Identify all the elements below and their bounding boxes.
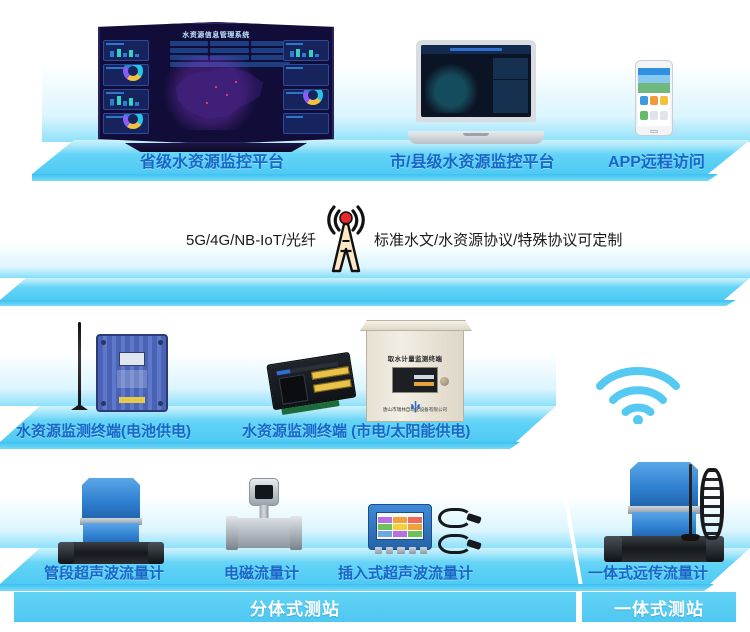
metering-cabinet: 取水计量监测终端 ◑|◐ 唐山市瑞林自动化设备有限公司 — [360, 318, 472, 422]
station-type-banner: 分体式测站 一体式测站 — [14, 592, 736, 622]
telemetry-antenna-icon — [689, 464, 692, 536]
video-wall-screen: 水资源信息管理系统 — [98, 22, 334, 144]
smartphone-body — [635, 60, 673, 136]
laptop-lid — [416, 40, 536, 122]
antenna-cable-coil-icon — [700, 468, 724, 540]
sensor-layer-edge — [0, 584, 714, 591]
cabinet-window — [392, 367, 438, 393]
comm-label-protocol: 标准水文/水资源协议/特殊协议可定制 — [374, 229, 622, 250]
smartphone-home-button — [650, 130, 658, 133]
terminal-layer-edge — [0, 442, 520, 449]
sensor-label-insertion-ultrasonic: 插入式超声波流量计 — [338, 562, 473, 583]
terminal-label-battery: 水资源监测终端(电池供电) — [16, 420, 191, 441]
laptop-base — [408, 131, 544, 144]
insertion-converter — [368, 504, 432, 550]
smartphone-screen — [638, 68, 670, 126]
insertion-ultrasonic-flowmeter — [368, 498, 480, 564]
banner-split-station: 分体式测站 — [14, 592, 576, 622]
banner-integrated-station: 一体式测站 — [582, 592, 736, 622]
sensor-cable-icon — [438, 508, 472, 528]
sensor-label-pipe-ultrasonic: 管段超声波流量计 — [44, 562, 164, 583]
video-wall-right-cards — [283, 40, 329, 134]
electromagnetic-flowmeter — [218, 478, 310, 564]
led-video-wall: 水资源信息管理系统 — [98, 22, 334, 144]
integrated-telemetry-flowmeter — [586, 462, 726, 564]
platform-label-municipal: 市/县级水资源监控平台 — [390, 148, 554, 172]
video-wall-map — [163, 56, 277, 130]
video-wall-screen-title: 水资源信息管理系统 — [100, 30, 332, 40]
wifi-icon — [592, 362, 684, 424]
rtu-antenna-icon — [78, 322, 81, 406]
platform-layer-edge — [32, 174, 718, 181]
diagram-canvas: 水资源信息管理系统 — [0, 0, 750, 632]
comm-label-bearer: 5G/4G/NB-IoT/光纤 — [186, 229, 316, 250]
rtu-enclosure — [96, 334, 168, 412]
antenna-tower-icon — [318, 203, 374, 275]
battery-rtu — [60, 320, 170, 416]
video-wall-nav-chips — [170, 41, 291, 53]
cabinet-lock-icon — [440, 377, 449, 386]
rtu-board — [261, 345, 362, 425]
cabinet-title: 取水计量监测终端 — [367, 353, 463, 363]
mains-rtu — [266, 352, 358, 418]
laptop-screen — [421, 45, 531, 117]
video-wall-left-cards — [103, 40, 149, 134]
smartphone — [635, 60, 673, 136]
sensor-label-integrated: 一体式远传流量计 — [588, 562, 708, 583]
cabinet-roof — [360, 320, 472, 331]
pipe-ultrasonic-flowmeter — [56, 478, 166, 564]
platform-label-app: APP远程访问 — [608, 148, 705, 172]
sensor-cable-icon — [438, 534, 472, 554]
cabinet-body: 取水计量监测终端 ◑|◐ 唐山市瑞林自动化设备有限公司 — [366, 328, 464, 422]
video-wall-stand — [117, 143, 315, 152]
sensor-label-electromagnetic: 电磁流量计 — [224, 562, 299, 583]
cabinet-company-name: 唐山市瑞林自动化设备有限公司 — [367, 407, 463, 413]
laptop — [408, 40, 544, 144]
communication-layer-edge — [0, 300, 736, 306]
communication-layer-slab — [0, 278, 750, 300]
